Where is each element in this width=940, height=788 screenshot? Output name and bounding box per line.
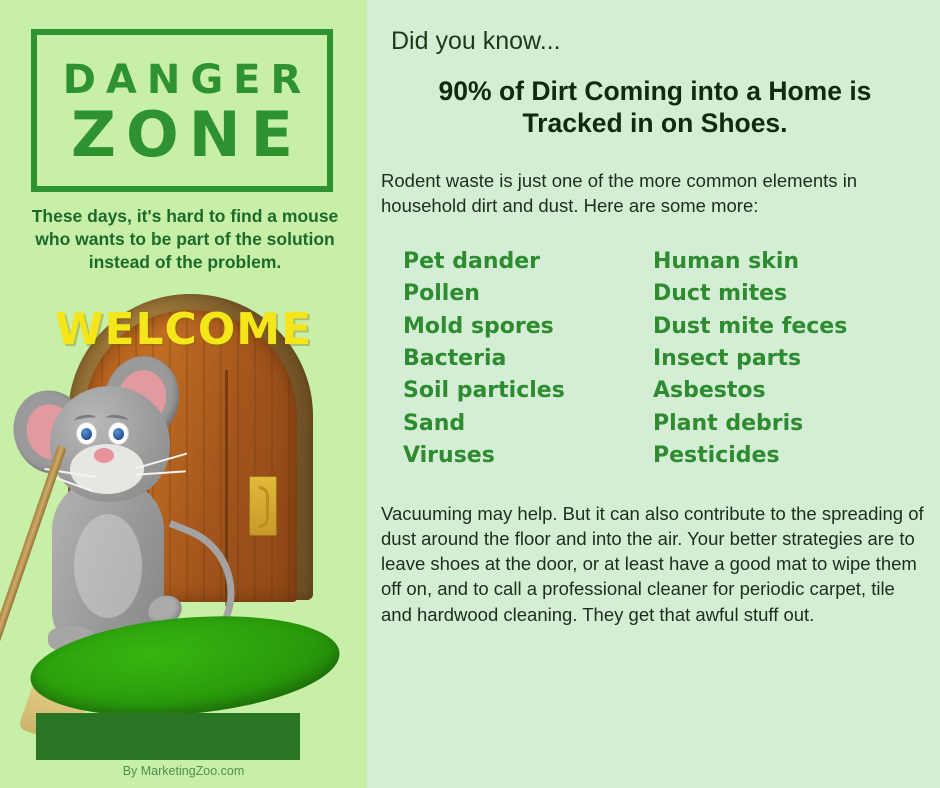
left-panel: DANGER ZONE These days, it's hard to fin… xyxy=(0,0,367,788)
list-item: Pet dander xyxy=(403,246,653,278)
zone-word: ZONE xyxy=(37,104,327,166)
bottom-dark-bar xyxy=(36,713,300,760)
contaminant-column-left: Pet dander Pollen Mold spores Bacteria S… xyxy=(403,246,653,472)
list-item: Pollen xyxy=(403,278,653,310)
mouse-belly xyxy=(74,514,142,618)
headline-text: 90% of Dirt Coming into a Home is Tracke… xyxy=(385,76,925,140)
intro-paragraph: Rodent waste is just one of the more com… xyxy=(381,169,929,218)
list-item: Dust mite feces xyxy=(653,311,903,343)
contaminant-column-right: Human skin Duct mites Dust mite feces In… xyxy=(653,246,903,472)
welcome-mat-text: WELCOME xyxy=(0,308,367,352)
list-item: Asbestos xyxy=(653,375,903,407)
tagline-text: These days, it's hard to find a mouse wh… xyxy=(24,205,346,274)
list-item: Mold spores xyxy=(403,311,653,343)
door-handle-icon xyxy=(249,476,277,536)
eyebrow-text: Did you know... xyxy=(391,27,561,56)
list-item: Human skin xyxy=(653,246,903,278)
list-item: Viruses xyxy=(403,440,653,472)
mouse-eye-icon xyxy=(108,422,129,445)
danger-zone-badge: DANGER ZONE xyxy=(31,29,333,192)
contaminant-list: Pet dander Pollen Mold spores Bacteria S… xyxy=(403,246,933,472)
list-item: Bacteria xyxy=(403,343,653,375)
list-item: Plant debris xyxy=(653,408,903,440)
right-panel: Did you know... 90% of Dirt Coming into … xyxy=(367,0,940,788)
list-item: Soil particles xyxy=(403,375,653,407)
outro-paragraph: Vacuuming may help. But it can also cont… xyxy=(381,501,927,627)
infographic-poster: DANGER ZONE These days, it's hard to fin… xyxy=(0,0,940,788)
mouse-nose-icon xyxy=(94,448,114,463)
list-item: Pesticides xyxy=(653,440,903,472)
mouse-eye-icon xyxy=(76,422,97,445)
mouse-head xyxy=(50,386,170,502)
danger-word: DANGER xyxy=(37,60,327,100)
list-item: Sand xyxy=(403,408,653,440)
mouse-whisker xyxy=(135,453,187,470)
list-item: Insect parts xyxy=(653,343,903,375)
credit-text: By MarketingZoo.com xyxy=(0,764,367,778)
mouse-door-illustration: WELCOME xyxy=(0,286,367,726)
list-item: Duct mites xyxy=(653,278,903,310)
